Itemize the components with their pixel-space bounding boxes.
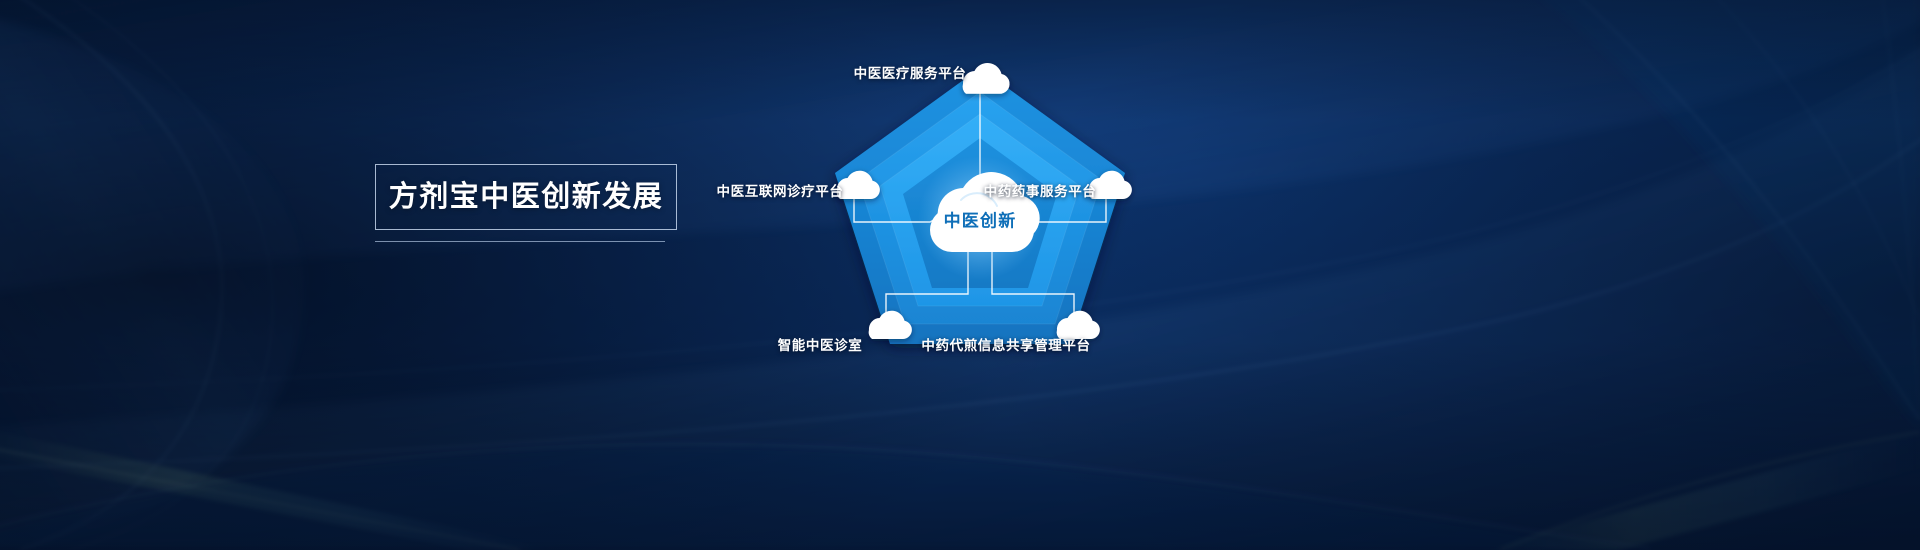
headline-frame: 方剂宝中医创新发展 xyxy=(375,164,677,230)
headline-underline xyxy=(375,241,665,242)
node-label-bottom-right: 中药代煎信息共享管理平台 xyxy=(921,334,1090,354)
center-node-label: 中医创新 xyxy=(944,207,1017,232)
banner-stage: 方剂宝中医创新发展 xyxy=(0,0,1920,550)
node-label-bottom-left: 智能中医诊室 xyxy=(778,334,863,354)
node-label-left: 中医互联网诊疗平台 xyxy=(717,180,844,200)
cloud-icon xyxy=(963,63,1010,94)
node-label-right: 中药药事服务平台 xyxy=(984,180,1097,200)
headline-block: 方剂宝中医创新发展 xyxy=(375,164,677,242)
pentagon-diagram: 中医医疗服务平台 中医互联网诊疗平台 中药药事服务平台 智能中医诊室 中药代煎信… xyxy=(780,22,1480,442)
node-label-top: 中医医疗服务平台 xyxy=(854,62,967,82)
page-title: 方剂宝中医创新发展 xyxy=(389,183,664,212)
